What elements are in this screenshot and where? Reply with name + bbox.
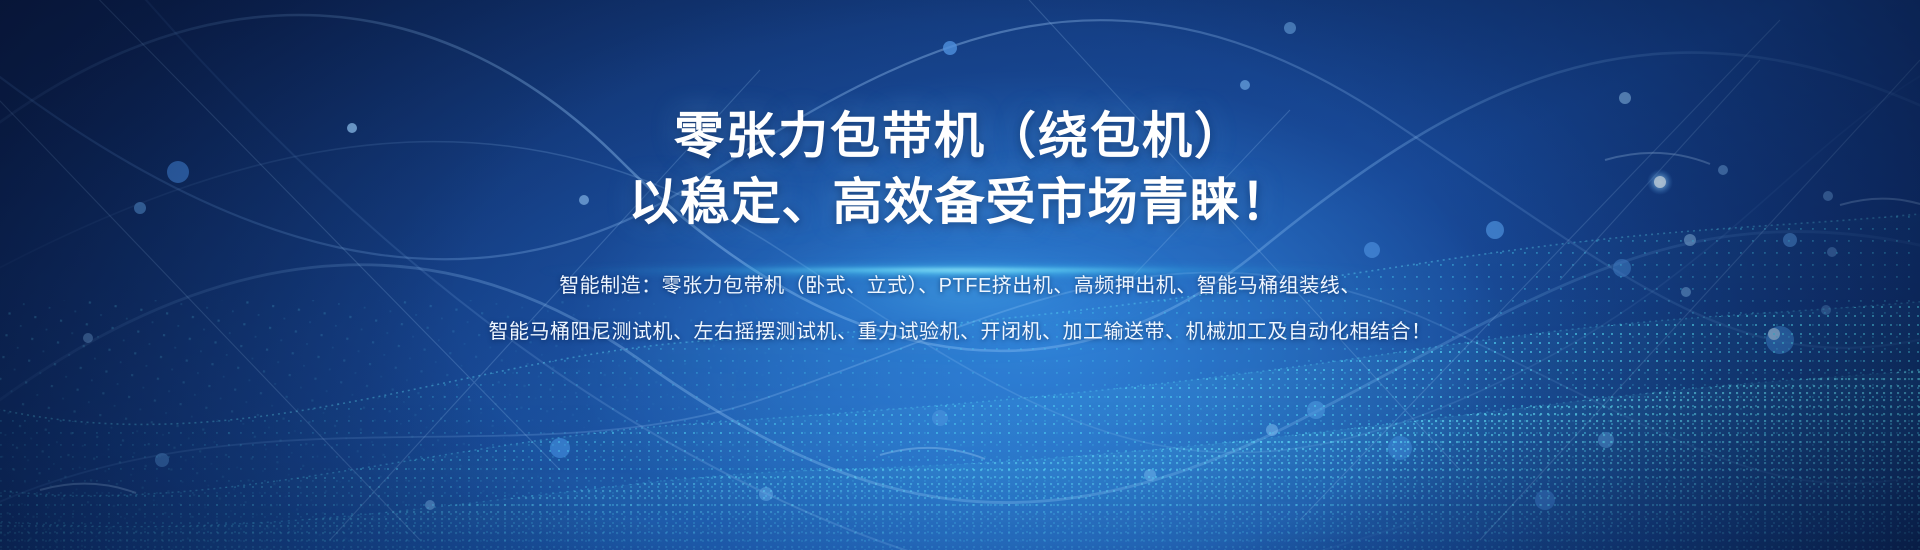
headline-line-2: 以稳定、高效备受市场青睐！ — [629, 174, 1292, 230]
banner-content: 零张力包带机（绕包机） 以稳定、高效备受市场青睐！ 智能制造：零张力包带机（卧式… — [0, 0, 1920, 550]
subtitle-line-1: 智能制造：零张力包带机（卧式、立式）、PTFE挤出机、高频押出机、智能马桶组装线… — [559, 274, 1361, 298]
hero-banner: 零张力包带机（绕包机） 以稳定、高效备受市场青睐！ 智能制造：零张力包带机（卧式… — [0, 0, 1920, 550]
subtitle-line-2: 智能马桶阻尼测试机、左右摇摆测试机、重力试验机、开闭机、加工输送带、机械加工及自… — [489, 320, 1432, 344]
headline-line-1: 零张力包带机（绕包机） — [674, 108, 1246, 164]
